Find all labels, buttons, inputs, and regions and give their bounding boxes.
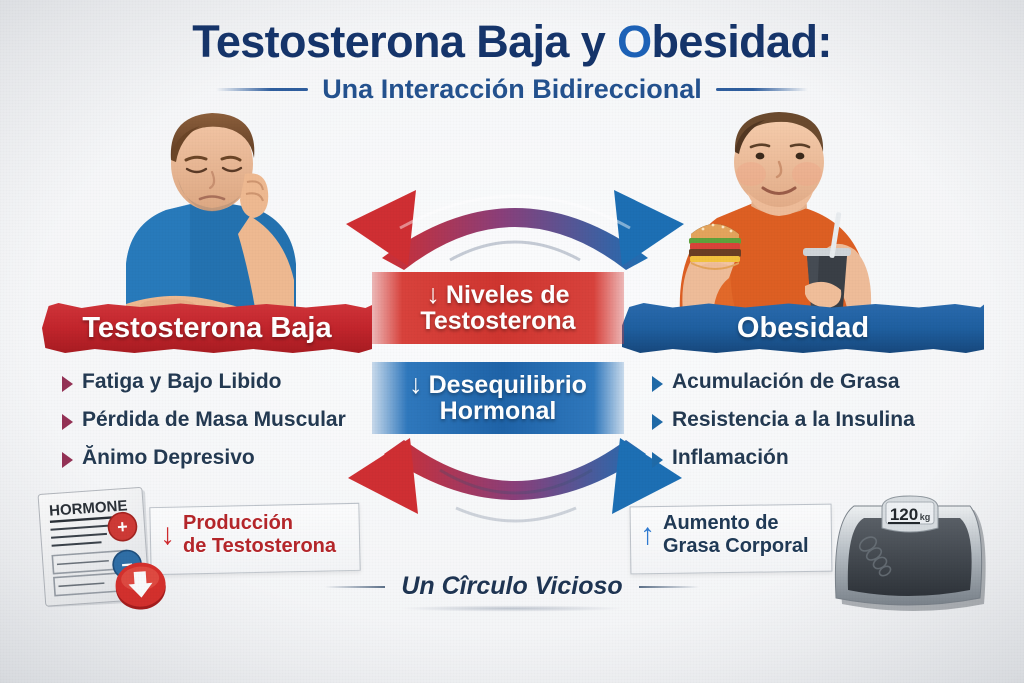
center-band-testosterone-levels: ↓Niveles de Testosterona [372, 272, 624, 344]
subtitle-rule-left [216, 88, 308, 91]
callout-left-line1: Producción [183, 512, 293, 534]
page-title: Testosterona Baja y Obesidad: [0, 16, 1024, 68]
triangle-bullet-icon [652, 376, 663, 392]
down-arrow-icon: ↓ [409, 371, 423, 399]
list-item-label: Fatiga y Bajo Libido [82, 370, 282, 394]
left-banner: Testosterona Baja [42, 303, 372, 353]
list-item: Resistencia a la Insulina [652, 408, 982, 432]
list-item: Pérdida de Masa Muscular [62, 408, 382, 432]
list-item-label: Ănimo Depresivo [82, 446, 255, 470]
triangle-bullet-icon [62, 452, 73, 468]
infographic-canvas: Testosterona Baja y Obesidad: Una Intera… [0, 0, 1024, 683]
center-band-top-line2: Testosterona [420, 307, 575, 335]
triangle-bullet-icon [652, 452, 663, 468]
left-banner-label: Testosterona Baja [82, 312, 331, 345]
footer-caption: Un Cîrculo Vicioso [401, 572, 622, 601]
footer-row: Un Cîrculo Vicioso [0, 572, 1024, 601]
center-band-bottom-line2: Hormonal [440, 397, 557, 425]
callout-left-line2: de Testosterona [183, 535, 336, 557]
title-text-part1: Testosterona Baja y [192, 16, 617, 67]
right-banner-label: Obesidad [737, 312, 869, 345]
scale-reading: 120 [890, 505, 918, 524]
center-band-top-line1: Niveles de [446, 281, 570, 309]
list-item-label: Inflamación [672, 446, 789, 470]
left-bullet-list: Fatiga y Bajo Libido Pérdida de Masa Mus… [62, 370, 382, 484]
scale-unit: kg [920, 512, 931, 522]
page-subtitle: Una Interacción Bidireccional [322, 74, 702, 105]
callout-right-line2: Grasa Corporal [663, 535, 809, 557]
list-item-label: Acumulación de Grasa [672, 370, 900, 394]
subtitle-rule-right [716, 88, 808, 91]
triangle-bullet-icon [62, 376, 73, 392]
callout-right-line1: Aumento de [663, 512, 779, 534]
right-banner: Obesidad [622, 303, 984, 353]
down-arrow-icon: ↓ [426, 281, 440, 309]
triangle-bullet-icon [652, 414, 663, 430]
plus-badge-icon: + [117, 516, 129, 537]
list-item: Acumulación de Grasa [652, 370, 982, 394]
callout-body-fat-increase: ↑ Aumento de Grasa Corporal [640, 512, 809, 558]
up-arrow-icon: ↑ [640, 520, 655, 550]
fatigued-man-illustration [108, 104, 313, 326]
callout-testosterone-production: ↓ Producción de Testosterona [160, 512, 336, 558]
triangle-bullet-icon [62, 414, 73, 430]
footer-rule-left [325, 586, 385, 588]
footer-shadow [352, 604, 672, 613]
list-item: Ănimo Depresivo [62, 446, 382, 470]
list-item: Fatiga y Bajo Libido [62, 370, 382, 394]
list-item-label: Pérdida de Masa Muscular [82, 408, 346, 432]
center-band-bottom-line1: Desequilibrio [429, 371, 587, 399]
list-item: Inflamación [652, 446, 982, 470]
bidirectional-arrow-top [330, 162, 700, 282]
title-text-part2: besidad: [652, 16, 832, 67]
title-text-highlight: O [617, 16, 651, 67]
right-bullet-list: Acumulación de Grasa Resistencia a la In… [652, 370, 982, 484]
footer-rule-right [639, 586, 699, 588]
center-band-hormonal-imbalance: ↓Desequilibrio Hormonal [372, 362, 624, 434]
list-item-label: Resistencia a la Insulina [672, 408, 915, 432]
